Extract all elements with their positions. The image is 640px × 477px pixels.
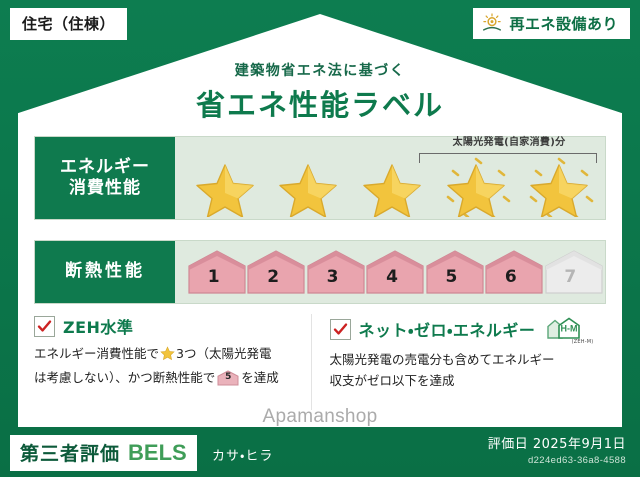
insulation-badge-value: 3 <box>327 267 339 295</box>
criteria-columns: ZEH水準 エネルギー消費性能で3つ（太陽光発電 は考慮しない）、かつ断熱性能で… <box>34 314 606 410</box>
star-1 <box>188 155 262 217</box>
insulation-badge-1: 1 <box>187 249 240 295</box>
inline-insulation-badge: 5 <box>217 370 239 386</box>
insulation-row: 断熱性能 1234567 <box>34 240 606 304</box>
label-panel: 建築物省エネ法に基づく 省エネ性能ラベル エネルギー 消費性能 太陽光発電(自家… <box>18 14 622 427</box>
zeh-m-logo-icon: H-M (ZEH-M) <box>545 314 587 344</box>
insulation-badge-7: 7 <box>544 249 597 295</box>
label-title: 省エネ性能ラベル <box>18 82 622 124</box>
zeh-desc-part3: は考慮しない）、かつ断熱性能で <box>34 370 215 385</box>
insulation-badge-6: 6 <box>484 249 537 295</box>
insulation-badge-2: 2 <box>246 249 299 295</box>
insulation-value: 1234567 <box>175 241 605 303</box>
renewable-equipment-chip: 再エネ設備あり <box>473 8 630 39</box>
renewable-chip-label: 再エネ設備あり <box>509 13 618 34</box>
insulation-badge-value: 4 <box>386 267 398 295</box>
zeh-m-logo-caption: (ZEH-M) <box>572 339 594 345</box>
building-name: カサ・ヒラ <box>212 445 273 464</box>
bels-name: BELS <box>128 440 187 466</box>
insulation-badge-value: 2 <box>267 267 279 295</box>
netzero-check-icon <box>330 319 351 340</box>
insulation-badge-3: 3 <box>306 249 359 295</box>
netzero-desc-line1: 太陽光発電の売電分も含めてエネルギー <box>330 352 555 367</box>
svg-text:H-M: H-M <box>561 324 578 334</box>
energy-performance-label: 住宅（住棟） 再エネ設備あり 建築物省エネ法に基づく 省エネ性能ラベ <box>0 0 640 477</box>
footer-right: 評価日 2025年9月1日 d224ed63-36a8-4588 <box>488 433 626 466</box>
star-rating <box>183 157 601 215</box>
energy-key-line2: 消費性能 <box>69 178 141 199</box>
category-chip-label: 住宅（住棟） <box>22 15 115 33</box>
sun-icon <box>481 12 503 34</box>
evaluation-date: 評価日 2025年9月1日 <box>488 433 626 452</box>
insulation-badge-value: 7 <box>564 267 576 295</box>
energy-consumption-row: エネルギー 消費性能 太陽光発電(自家消費)分 <box>34 136 606 220</box>
insulation-badge-value: 5 <box>445 267 457 295</box>
insulation-scale: 1234567 <box>187 241 597 303</box>
insulation-badge-4: 4 <box>365 249 418 295</box>
solar-annotation-label: 太陽光発電(自家消費)分 <box>419 133 599 148</box>
zeh-desc-part4: を達成 <box>241 370 279 385</box>
insulation-badge-value: 1 <box>208 267 220 295</box>
watermark: Apamanshop <box>0 406 640 428</box>
insulation-key: 断熱性能 <box>35 241 175 303</box>
netzero-desc-line2: 収支がゼロ以下を達成 <box>330 373 455 388</box>
energy-consumption-key: エネルギー 消費性能 <box>35 137 175 219</box>
label-uid: d224ed63-36a8-4588 <box>488 455 626 466</box>
star-3 <box>355 155 429 217</box>
zeh-heading: ZEH水準 <box>63 314 133 338</box>
insulation-badge-value: 6 <box>505 267 517 295</box>
star-4 <box>439 155 513 217</box>
zeh-column: ZEH水準 エネルギー消費性能で3つ（太陽光発電 は考慮しない）、かつ断熱性能で… <box>34 314 311 410</box>
inline-star-icon <box>160 346 175 368</box>
netzero-column: ネット・ゼロ・エネルギー H-M (ZEH-M) 太陽光発電の売電分も含めてエネ… <box>311 314 607 410</box>
category-chip: 住宅（住棟） <box>10 8 127 40</box>
star-2 <box>271 155 345 217</box>
insulation-key-label: 断熱性能 <box>65 261 145 282</box>
zeh-check-icon <box>34 316 55 337</box>
star-5 <box>522 155 596 217</box>
netzero-heading-row: ネット・ゼロ・エネルギー H-M (ZEH-M) <box>330 314 597 344</box>
zeh-description: エネルギー消費性能で3つ（太陽光発電 は考慮しない）、かつ断熱性能で5を達成 <box>34 344 301 388</box>
footer-bar: 第三者評価 BELS カサ・ヒラ 評価日 2025年9月1日 d224ed63-… <box>0 427 640 477</box>
inline-insulation-badge-value: 5 <box>217 370 239 386</box>
label-subtitle: 建築物省エネ法に基づく <box>18 60 622 80</box>
bels-badge: 第三者評価 BELS <box>10 435 197 471</box>
netzero-description: 太陽光発電の売電分も含めてエネルギー 収支がゼロ以下を達成 <box>330 350 597 391</box>
zeh-desc-part1: エネルギー消費性能で <box>34 346 159 361</box>
zeh-desc-part2: 3つ（太陽光発電 <box>176 346 271 361</box>
bels-prefix: 第三者評価 <box>20 439 120 466</box>
insulation-badge-5: 5 <box>425 249 478 295</box>
energy-key-line1: エネルギー <box>60 157 150 178</box>
zeh-heading-row: ZEH水準 <box>34 314 301 338</box>
energy-consumption-value: 太陽光発電(自家消費)分 <box>175 137 605 219</box>
netzero-heading: ネット・ゼロ・エネルギー <box>359 317 536 341</box>
